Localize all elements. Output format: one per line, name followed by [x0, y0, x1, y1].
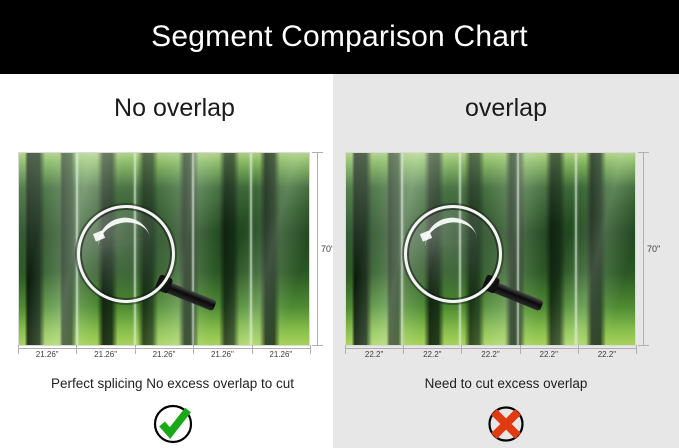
dimension-cap — [638, 345, 649, 346]
panel-heading-overlap: overlap — [333, 94, 679, 123]
caption-no-overlap: Perfect splicing No excess overlap to cu… — [0, 376, 339, 391]
segment-width-label: 21.26" — [193, 350, 251, 359]
height-dimension-overlap: 70" — [638, 152, 664, 346]
comparison-panels: No overlap — [0, 74, 679, 448]
dimension-line — [345, 348, 636, 349]
dimension-line — [317, 152, 318, 346]
caption-overlap: Need to cut excess overlap — [333, 376, 679, 391]
segment-width-label: 21.26" — [76, 350, 134, 359]
header-banner: Segment Comparison Chart — [0, 0, 679, 74]
segment-seam — [76, 153, 78, 345]
segment-width-label: 22.2" — [520, 350, 578, 359]
segment-seam — [192, 153, 194, 345]
segment-seam — [459, 153, 461, 345]
segment-width-label: 22.2" — [345, 350, 403, 359]
segment-width-label: 22.2" — [403, 350, 461, 359]
segment-seam — [134, 153, 136, 345]
verdict-no-overlap — [0, 402, 339, 446]
width-dimensions-no-overlap: 21.26" 21.26" 21.26" 21.26" 21.26" — [18, 348, 310, 370]
forest-photo — [346, 153, 635, 345]
segment-width-label: 21.26" — [18, 350, 76, 359]
segment-seam — [517, 153, 519, 345]
panel-overlap: overlap — [333, 74, 679, 448]
segment-seam — [575, 153, 577, 345]
check-icon — [151, 402, 195, 446]
segment-width-label: 22.2" — [461, 350, 519, 359]
panel-heading-no-overlap: No overlap — [0, 94, 341, 123]
segment-seam — [250, 153, 252, 345]
forest-photo — [19, 153, 309, 345]
dimension-line — [18, 348, 310, 349]
verdict-overlap — [333, 402, 679, 446]
cross-icon — [484, 402, 528, 446]
segment-width-label: 21.26" — [252, 350, 310, 359]
segment-comparison-chart: Segment Comparison Chart No overlap — [0, 0, 679, 448]
dimension-tick — [636, 345, 637, 354]
height-label: 70" — [647, 244, 660, 254]
panel-no-overlap: No overlap — [0, 74, 333, 448]
dimension-cap — [312, 345, 323, 346]
page-title: Segment Comparison Chart — [151, 20, 528, 54]
segment-width-label: 22.2" — [578, 350, 636, 359]
dimension-line — [643, 152, 644, 346]
segment-seam — [401, 153, 403, 345]
forest-image-no-overlap — [18, 152, 310, 346]
width-dimensions-overlap: 22.2" 22.2" 22.2" 22.2" 22.2" — [345, 348, 636, 370]
forest-image-overlap — [345, 152, 636, 346]
segment-width-label: 21.26" — [135, 350, 193, 359]
dimension-tick — [310, 345, 311, 354]
